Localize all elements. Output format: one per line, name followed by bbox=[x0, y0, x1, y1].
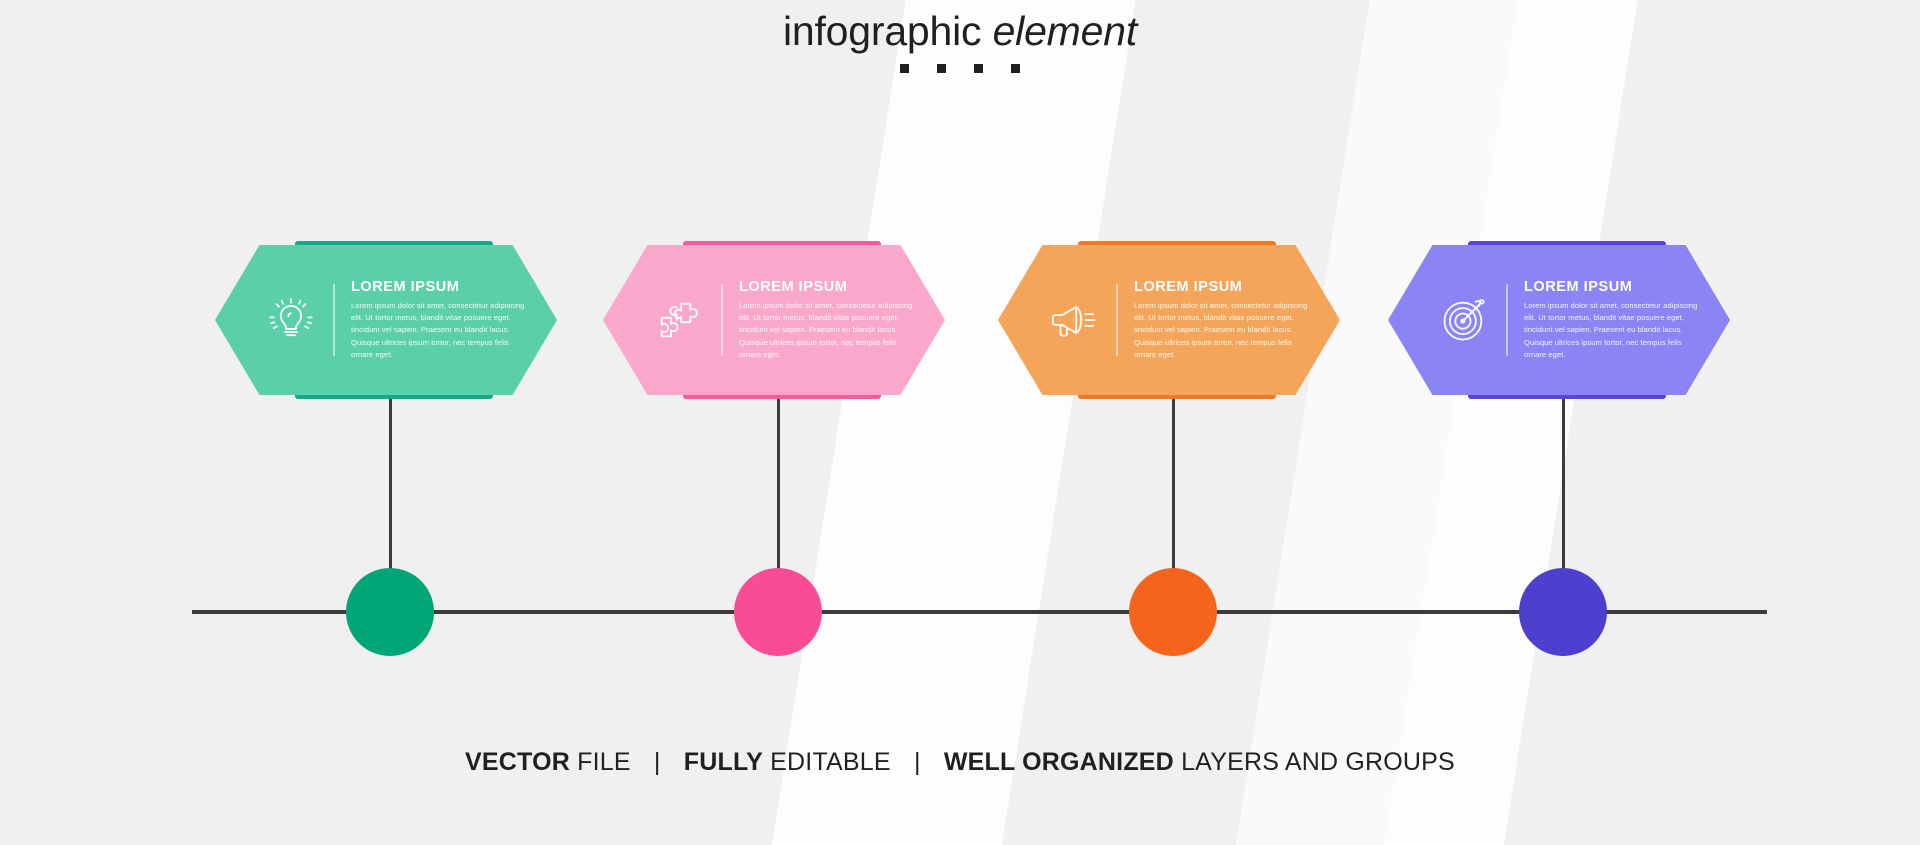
card-text-4: LOREM IPSUM Lorem ipsum dolor sit amet, … bbox=[1524, 279, 1708, 361]
card-heading-4: LOREM IPSUM bbox=[1524, 279, 1698, 295]
timeline-node-4[interactable] bbox=[1519, 568, 1607, 656]
card-description-2: Lorem ipsum dolor sit amet, consectetur … bbox=[739, 300, 913, 361]
footer-file-normal: FILE bbox=[577, 748, 631, 776]
title-word-infographic: infographic bbox=[783, 8, 981, 54]
card-heading-3: LOREM IPSUM bbox=[1134, 279, 1308, 295]
title-square-icon-2 bbox=[937, 64, 946, 73]
info-card-2[interactable]: LOREM IPSUM Lorem ipsum dolor sit amet, … bbox=[603, 245, 945, 395]
card-divider-3 bbox=[1116, 284, 1118, 356]
card-description-3: Lorem ipsum dolor sit amet, consectetur … bbox=[1134, 300, 1308, 361]
target-icon bbox=[1428, 284, 1500, 356]
info-card-4[interactable]: LOREM IPSUM Lorem ipsum dolor sit amet, … bbox=[1388, 245, 1730, 395]
title-word-element: element bbox=[993, 8, 1137, 54]
card-body-4: LOREM IPSUM Lorem ipsum dolor sit amet, … bbox=[1388, 245, 1730, 395]
footer-editable-normal: EDITABLE bbox=[770, 748, 891, 776]
footer-layers-normal: LAYERS AND GROUPS bbox=[1181, 748, 1455, 776]
card-body-2: LOREM IPSUM Lorem ipsum dolor sit amet, … bbox=[603, 245, 945, 395]
card-divider-2 bbox=[721, 284, 723, 356]
infographic-canvas: infographic element bbox=[0, 0, 1920, 845]
puzzle-piece-icon bbox=[643, 284, 715, 356]
title-square-icon-1 bbox=[900, 64, 909, 73]
card-description-4: Lorem ipsum dolor sit amet, consectetur … bbox=[1524, 300, 1698, 361]
card-heading-1: LOREM IPSUM bbox=[351, 279, 525, 295]
page-title: infographic element bbox=[0, 8, 1920, 55]
megaphone-icon bbox=[1038, 284, 1110, 356]
background-stripe-2 bbox=[1211, 0, 1536, 845]
timeline-node-3[interactable] bbox=[1129, 568, 1217, 656]
card-description-1: Lorem ipsum dolor sit amet, consectetur … bbox=[351, 300, 525, 361]
footer-fully-bold: FULLY bbox=[684, 748, 763, 776]
card-divider-1 bbox=[333, 284, 335, 356]
card-text-1: LOREM IPSUM Lorem ipsum dolor sit amet, … bbox=[351, 279, 535, 361]
card-body-1: LOREM IPSUM Lorem ipsum dolor sit amet, … bbox=[215, 245, 557, 395]
header: infographic element bbox=[0, 8, 1920, 73]
card-body-3: LOREM IPSUM Lorem ipsum dolor sit amet, … bbox=[998, 245, 1340, 395]
card-text-3: LOREM IPSUM Lorem ipsum dolor sit amet, … bbox=[1134, 279, 1318, 361]
footer-separator-1: | bbox=[638, 748, 677, 776]
card-text-2: LOREM IPSUM Lorem ipsum dolor sit amet, … bbox=[739, 279, 923, 361]
footer-well-organized-bold: WELL ORGANIZED bbox=[944, 748, 1174, 776]
timeline-node-1[interactable] bbox=[346, 568, 434, 656]
footer-separator-2: | bbox=[898, 748, 937, 776]
footer-caption: VECTOR FILE | FULLY EDITABLE | WELL ORGA… bbox=[0, 748, 1920, 777]
title-dot-row bbox=[0, 64, 1920, 73]
background-stripe-1 bbox=[747, 0, 1154, 845]
title-square-icon-4 bbox=[1011, 64, 1020, 73]
info-card-1[interactable]: LOREM IPSUM Lorem ipsum dolor sit amet, … bbox=[215, 245, 557, 395]
title-square-icon-3 bbox=[974, 64, 983, 73]
lightbulb-icon bbox=[255, 284, 327, 356]
card-divider-4 bbox=[1506, 284, 1508, 356]
card-heading-2: LOREM IPSUM bbox=[739, 279, 913, 295]
timeline-node-2[interactable] bbox=[734, 568, 822, 656]
background-stripe-3 bbox=[1359, 0, 1656, 845]
info-card-3[interactable]: LOREM IPSUM Lorem ipsum dolor sit amet, … bbox=[998, 245, 1340, 395]
footer-vector-bold: VECTOR bbox=[465, 748, 570, 776]
